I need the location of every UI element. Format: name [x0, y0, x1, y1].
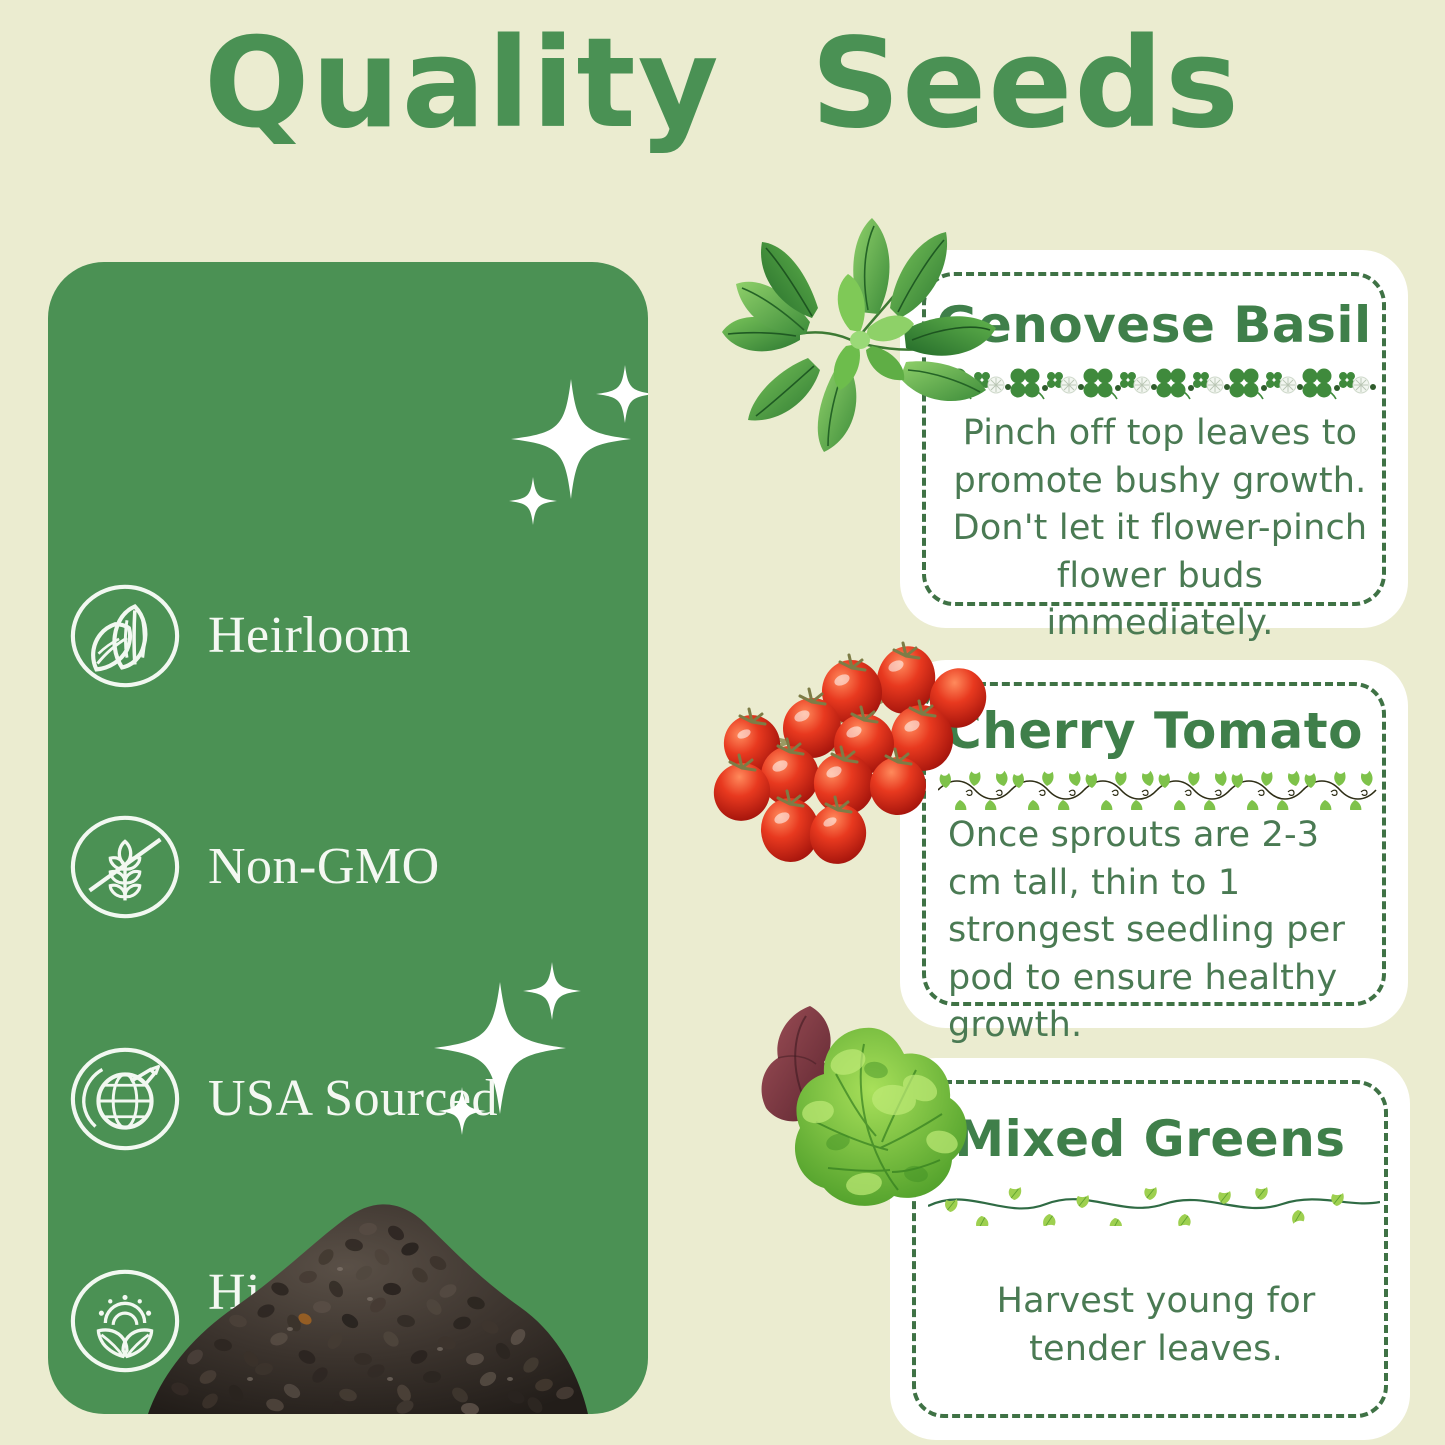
leafy-wave-divider: [928, 1180, 1380, 1226]
card-title: Cherry Tomato: [900, 702, 1408, 760]
clover-flower-divider: [938, 360, 1378, 406]
sparkle-cluster-icon: [503, 357, 648, 547]
feature-item-high-germination: High Germination: [66, 1262, 636, 1380]
feature-item-heirloom: Heirloom: [66, 577, 636, 695]
feature-item-usa-sourced: USA Sourced: [66, 1040, 636, 1158]
features-panel: Heirloom Non-GMO: [48, 262, 648, 1414]
card-title: Genovese Basil: [900, 296, 1408, 354]
card-title: Mixed Greens: [890, 1110, 1410, 1168]
seed-leaf-icon: [66, 577, 184, 695]
feature-label: USA Sourced: [208, 1072, 498, 1127]
feature-label: Heirloom: [208, 609, 411, 664]
sprout-growth-icon: [66, 1262, 184, 1380]
page-title: Quality Seeds: [0, 22, 1445, 146]
feature-label: High Germination: [208, 1266, 476, 1375]
feature-label: Non-GMO: [208, 840, 440, 895]
globe-plane-icon: [66, 1040, 184, 1158]
feature-item-non-gmo: Non-GMO: [66, 808, 636, 926]
variety-card-basil: Genovese Basil: [900, 250, 1408, 628]
infographic-canvas: Quality Seeds Heirloom: [0, 0, 1445, 1445]
card-body: Once sprouts are 2-3 cm tall, thin to 1 …: [948, 812, 1376, 1050]
no-wheat-icon: [66, 808, 184, 926]
card-body: Harvest young for tender leaves.: [942, 1278, 1370, 1373]
variety-card-greens: Mixed Greens: [890, 1058, 1410, 1440]
card-body: Pinch off top leaves to promote bushy gr…: [952, 410, 1368, 648]
variety-card-tomato: Cherry Tomato: [900, 660, 1408, 1028]
ivy-vine-divider: [938, 764, 1378, 810]
